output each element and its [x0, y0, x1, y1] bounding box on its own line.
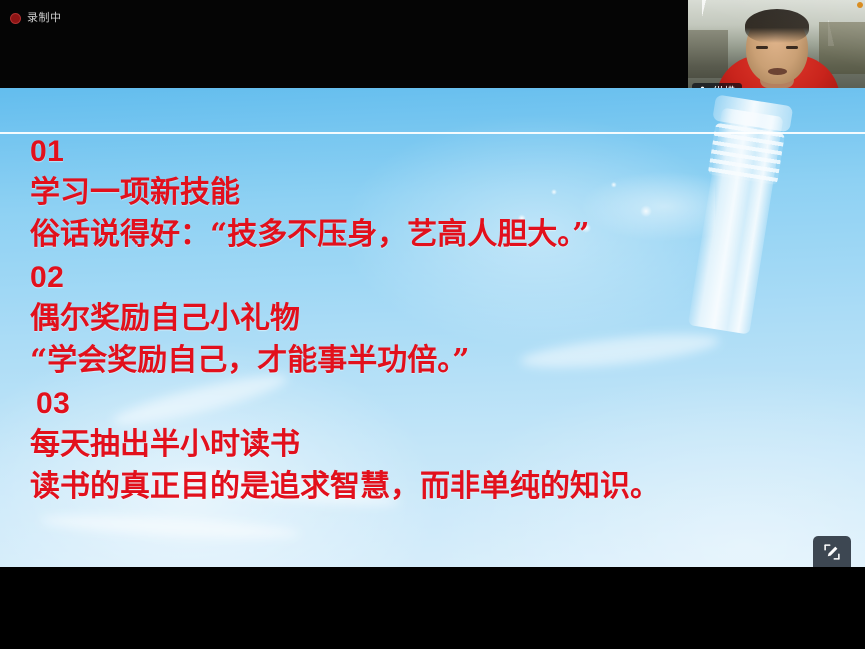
- section-number: 02: [30, 258, 845, 298]
- bottom-toolbar: 1/27: [0, 567, 865, 649]
- recording-indicator: 录制中: [10, 13, 62, 24]
- section-headline: 每天抽出半小时读书: [30, 424, 845, 465]
- record-dot-icon: [10, 13, 21, 24]
- participant-mouth: [768, 68, 787, 75]
- participant-hair: [745, 9, 809, 43]
- shared-slide[interactable]: 01 学习一项新技能 俗话说得好：“技多不压身，艺高人胆大。” 02 偶尔奖励自…: [0, 88, 865, 567]
- video-wall-left: [688, 30, 728, 78]
- annotate-button[interactable]: [813, 536, 851, 568]
- section-headline: 学习一项新技能: [30, 172, 845, 213]
- participant-eye-left: [756, 46, 768, 49]
- participant-eye-right: [786, 46, 798, 49]
- slide-section: 01 学习一项新技能 俗话说得好：“技多不压身，艺高人胆大。”: [30, 132, 845, 256]
- recording-label: 录制中: [27, 13, 62, 24]
- meeting-screen-share-view: 录制中 纵横: [0, 0, 865, 649]
- slide-section: 03 每天抽出半小时读书 读书的真正目的是追求智慧，而非单纯的知识。: [30, 384, 845, 508]
- section-number: 03: [30, 384, 845, 424]
- section-quote: 读书的真正目的是追求智慧，而非单纯的知识。: [30, 465, 845, 508]
- pen-annotate-icon: [821, 541, 843, 563]
- section-number: 01: [30, 132, 845, 172]
- section-quote: “学会奖励自己，才能事半功倍。”: [30, 339, 845, 382]
- section-headline: 偶尔奖励自己小礼物: [30, 298, 845, 339]
- video-wall-right: [819, 22, 865, 74]
- slide-section: 02 偶尔奖励自己小礼物 “学会奖励自己，才能事半功倍。”: [30, 258, 845, 382]
- decorative-wisp: [40, 511, 301, 543]
- status-dot-icon: [857, 2, 863, 8]
- section-quote: 俗话说得好：“技多不压身，艺高人胆大。”: [30, 213, 845, 256]
- slide-text-content: 01 学习一项新技能 俗话说得好：“技多不压身，艺高人胆大。” 02 偶尔奖励自…: [30, 132, 845, 510]
